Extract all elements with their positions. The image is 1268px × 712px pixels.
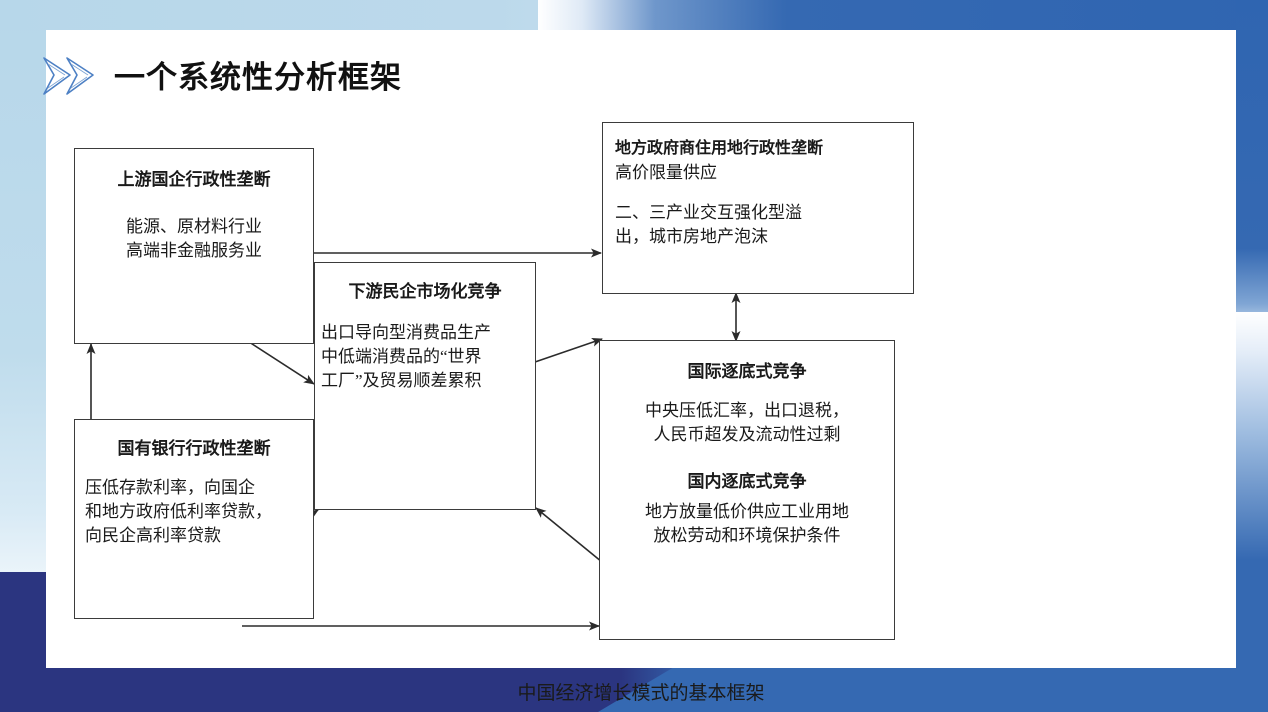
- slide-header: 一个系统性分析框架: [46, 30, 1236, 122]
- diagram-box-downstream-private[interactable]: 下游民企市场化竞争 出口导向型消费品生产 中低端消费品的“世界 工厂”及贸易顺差…: [314, 262, 536, 510]
- box-body-local-govt-land: 高价限量供应: [615, 161, 901, 185]
- box-title-race-international: 国际逐底式竞争: [600, 359, 894, 385]
- frame-bottom-right-side: [1236, 312, 1268, 712]
- page-title: 一个系统性分析框架: [114, 52, 402, 97]
- connector-soe-private: [246, 340, 314, 384]
- frame-top-right-side: [1236, 0, 1268, 345]
- connector-private-land: [535, 339, 602, 362]
- frame-top-right-bar: [538, 0, 1268, 30]
- box-body-downstream-private: 出口导向型消费品生产 中低端消费品的“世界 工厂”及贸易顺差累积: [315, 321, 535, 393]
- box-body-race-domestic: 地方放量低价供应工业用地 放松劳动和环境保护条件: [600, 500, 894, 548]
- diagram-box-race-to-bottom[interactable]: 国际逐底式竞争 中央压低汇率，出口退税， 人民币超发及流动性过剩 国内逐底式竞争…: [599, 340, 895, 640]
- slide-root: 一个系统性分析框架 local govt land -->: [0, 0, 1268, 712]
- box-title-state-banks: 国有银行行政性垄断: [75, 436, 313, 462]
- diagram-caption: 中国经济增长模式的基本框架: [46, 678, 1236, 705]
- diagram-box-local-govt-land[interactable]: 地方政府商住用地行政性垄断 高价限量供应 二、三产业交互强化型溢 出，城市房地产…: [602, 122, 914, 294]
- diagram-box-upstream-soe[interactable]: 上游国企行政性垄断 能源、原材料行业 高端非金融服务业: [74, 148, 314, 344]
- box-title-local-govt-land: 地方政府商住用地行政性垄断: [615, 137, 901, 161]
- double-chevron-icon: [34, 52, 104, 100]
- box-title-downstream-private: 下游民企市场化竞争: [315, 279, 535, 305]
- box-body-race-international: 中央压低汇率，出口退税， 人民币超发及流动性过剩: [600, 399, 894, 447]
- box-body-state-banks: 压低存款利率，向国企 和地方政府低利率贷款， 向民企高利率贷款: [75, 476, 313, 548]
- box-title-upstream-soe: 上游国企行政性垄断: [75, 167, 313, 193]
- box-title-race-domestic: 国内逐底式竞争: [600, 469, 894, 495]
- slide-content-card: 一个系统性分析框架 local govt land -->: [46, 30, 1236, 668]
- connector-race-private: [536, 508, 602, 562]
- diagram-box-state-banks[interactable]: 国有银行行政性垄断 压低存款利率，向国企 和地方政府低利率贷款， 向民企高利率贷…: [74, 419, 314, 619]
- diagram-container: local govt land -->: [46, 122, 1236, 668]
- box-body-upstream-soe: 能源、原材料行业 高端非金融服务业: [75, 215, 313, 263]
- box-body2-local-govt-land: 二、三产业交互强化型溢 出，城市房地产泡沫: [615, 201, 901, 249]
